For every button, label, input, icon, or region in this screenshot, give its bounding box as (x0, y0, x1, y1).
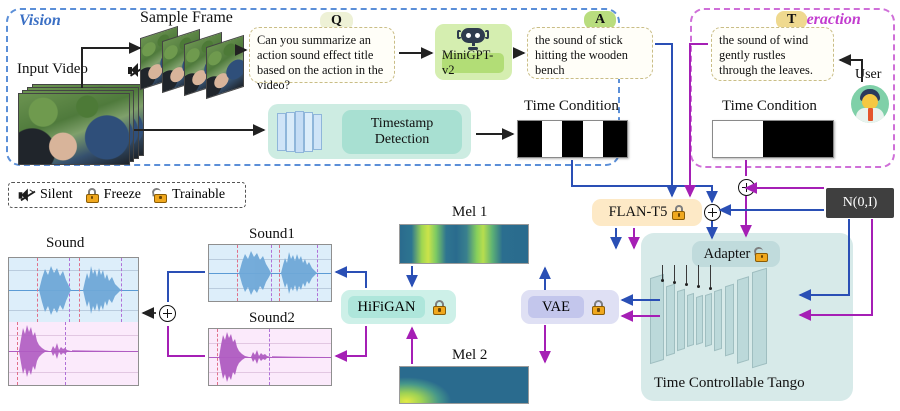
legend-item-silent: Silent (18, 187, 73, 203)
interaction-time-condition-label: Time Condition (722, 98, 817, 115)
vision-region-label: Vision (16, 12, 64, 30)
flan-t5-module[interactable]: FLAN-T5 (592, 199, 702, 226)
input-video-stack (18, 84, 148, 162)
legend-item-freeze: Freeze (86, 187, 141, 203)
closed-lock-icon (672, 205, 685, 220)
vision-time-condition-bar (517, 120, 628, 158)
mute-speaker-icon (19, 189, 35, 202)
mel2-spectrogram (399, 366, 529, 404)
hifigan-label: HiFiGAN (357, 299, 415, 316)
hifigan-module[interactable]: HiFiGAN (341, 290, 456, 324)
sound2-label: Sound2 (249, 310, 295, 327)
sound1-waveform (208, 244, 332, 302)
legend-item-trainable: Trainable (154, 187, 225, 203)
question-bubble: Can you summarize an action sound effect… (249, 27, 395, 83)
flan-t5-label: FLAN-T5 (609, 204, 668, 221)
open-lock-icon (755, 247, 768, 262)
robot-icon (458, 26, 488, 50)
closed-lock-icon (86, 188, 99, 203)
plus-circle-icon-cond-a (704, 204, 721, 221)
closed-lock-icon (592, 300, 605, 315)
unet-plate-stack (648, 268, 848, 368)
noise-module: N(0,I) (826, 188, 894, 218)
interaction-time-condition-bar (712, 120, 834, 158)
text-prompt-bubble: the sound of wind gently rustles through… (711, 27, 834, 81)
legend: Silent Freeze Trainable (8, 182, 246, 208)
legend-label-silent: Silent (40, 187, 73, 203)
adapter-label: Adapter (704, 246, 751, 263)
legend-label-freeze: Freeze (104, 187, 141, 203)
noise-label: N(0,I) (843, 195, 878, 211)
feature-plate-stack (277, 111, 333, 153)
vae-label: VAE (542, 299, 570, 316)
plus-circle-icon-cond-b (738, 179, 755, 196)
timestamp-detection-label-2: Detection (375, 132, 429, 148)
sound2-waveform (208, 328, 332, 386)
mel1-label: Mel 1 (452, 204, 487, 221)
minigpt-module[interactable]: MiniGPT-v2 (435, 24, 512, 80)
sound1-label: Sound1 (249, 226, 295, 243)
sound-mixed-waveform (8, 257, 139, 386)
input-video-label: Input Video (17, 61, 88, 78)
user-avatar-icon (851, 85, 889, 123)
sound-label: Sound (46, 235, 84, 252)
answer-bubble: the sound of stick hitting the wooden be… (527, 27, 653, 79)
adapter-module[interactable]: Adapter (692, 241, 780, 267)
minigpt-label: MiniGPT-v2 (442, 53, 504, 73)
plus-circle-icon-mix (159, 305, 176, 322)
legend-label-trainable: Trainable (172, 187, 225, 203)
vae-module[interactable]: VAE (521, 290, 619, 324)
timestamp-detection-label-1: Timestamp (371, 116, 434, 132)
closed-lock-icon (433, 300, 446, 315)
tango-label: Time Controllable Tango (654, 375, 805, 392)
figure-canvas: Vision Interaction Input Video Sample Fr… (0, 0, 900, 411)
user-label: User (855, 67, 881, 83)
mel1-spectrogram (399, 224, 529, 264)
mel2-label: Mel 2 (452, 347, 487, 364)
open-lock-icon (154, 188, 167, 203)
sample-frame-stack (140, 24, 260, 94)
timestamp-detection-module[interactable]: Timestamp Detection (268, 104, 471, 159)
vision-time-condition-label: Time Condition (524, 98, 619, 115)
